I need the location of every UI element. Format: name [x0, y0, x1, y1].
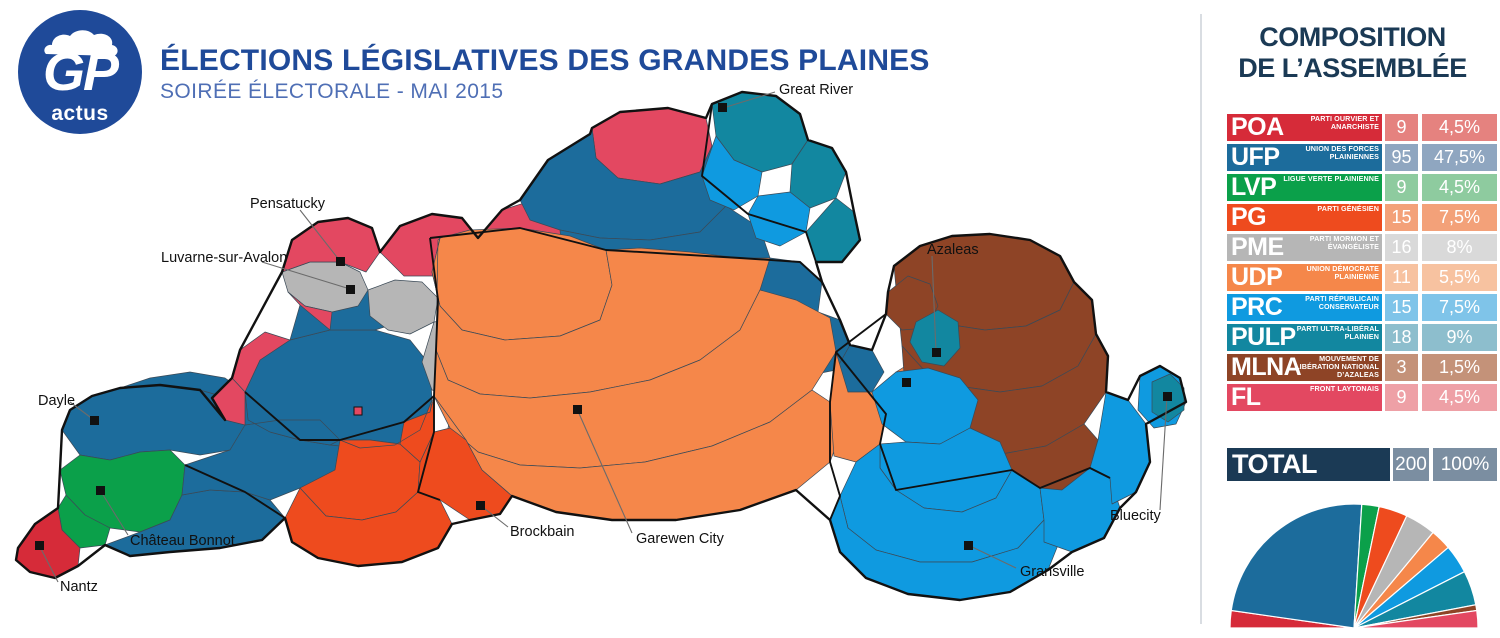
party-abbreviation: FL [1231, 385, 1261, 410]
city-label-pensatucky: Pensatucky [250, 196, 325, 212]
party-full-name: PARTI MORMON ET ÉVANGÉLISTE [1283, 235, 1379, 251]
party-name-cell: UFPUNION DES FORCES PLAINIENNES [1227, 144, 1382, 171]
party-full-name: PARTI GÉNÉSIEN [1283, 205, 1379, 213]
city-label-gransville: Gransville [1020, 564, 1084, 580]
total-label: TOTAL [1227, 448, 1390, 481]
party-percentage: 7,5% [1422, 204, 1497, 231]
party-row[interactable]: FLFRONT LAYTONAIS94,5% [1227, 384, 1497, 411]
panel-divider [1200, 14, 1202, 624]
total-seats: 200 [1393, 448, 1429, 481]
party-row[interactable]: POAPARTI OURVIER ET ANARCHISTE94,5% [1227, 114, 1497, 141]
party-abbreviation: POA [1231, 115, 1284, 140]
composition-title-line2: DE L’ASSEMBLÉE [1205, 53, 1500, 84]
party-name-cell: FLFRONT LAYTONAIS [1227, 384, 1382, 411]
party-full-name: LIGUE VERTE PLAINIENNE [1283, 175, 1379, 183]
party-row[interactable]: PULPPARTI ULTRA-LIBÉRAL PLAINIEN189% [1227, 324, 1497, 351]
party-name-cell: PULPPARTI ULTRA-LIBÉRAL PLAINIEN [1227, 324, 1382, 351]
party-abbreviation: PRC [1231, 295, 1282, 320]
party-full-name: PARTI RÉPUBLICAIN CONSERVATEUR [1283, 295, 1379, 311]
party-name-cell: MLNAMOUVEMENT DE LIBÉRATION NATIONAL D’A… [1227, 354, 1382, 381]
party-full-name: PARTI ULTRA-LIBÉRAL PLAINIEN [1283, 325, 1379, 341]
city-label-dayle: Dayle [38, 393, 75, 409]
party-percentage: 5,5% [1422, 264, 1497, 291]
total-row: TOTAL 200 100% [1227, 448, 1497, 481]
party-name-cell: PMEPARTI MORMON ET ÉVANGÉLISTE [1227, 234, 1382, 261]
party-row[interactable]: PRCPARTI RÉPUBLICAIN CONSERVATEUR157,5% [1227, 294, 1497, 321]
hemicycle-slice-ufp [1231, 504, 1362, 628]
composition-title-line1: COMPOSITION [1205, 22, 1500, 53]
party-percentage: 9% [1422, 324, 1497, 351]
party-seat-count: 9 [1385, 114, 1418, 141]
party-full-name: UNION DES FORCES PLAINIENNES [1283, 145, 1379, 161]
party-full-name: UNION DÉMOCRATE PLAINIENNE [1283, 265, 1379, 281]
party-row[interactable]: UFPUNION DES FORCES PLAINIENNES9547,5% [1227, 144, 1497, 171]
party-row[interactable]: LVPLIGUE VERTE PLAINIENNE94,5% [1227, 174, 1497, 201]
party-abbreviation: UDP [1231, 265, 1282, 290]
party-seat-count: 9 [1385, 384, 1418, 411]
party-name-cell: POAPARTI OURVIER ET ANARCHISTE [1227, 114, 1382, 141]
party-row[interactable]: MLNAMOUVEMENT DE LIBÉRATION NATIONAL D’A… [1227, 354, 1497, 381]
party-seat-count: 15 [1385, 204, 1418, 231]
party-full-name: FRONT LAYTONAIS [1283, 385, 1379, 393]
party-seat-count: 3 [1385, 354, 1418, 381]
party-abbreviation: LVP [1231, 175, 1276, 200]
infographic-root: GP actus ÉLECTIONS LÉGISLATIVES DES GRAN… [0, 0, 1500, 638]
party-row[interactable]: UDPUNION DÉMOCRATE PLAINIENNE115,5% [1227, 264, 1497, 291]
city-label-bluecity: Bluecity [1110, 508, 1161, 524]
party-name-cell: LVPLIGUE VERTE PLAINIENNE [1227, 174, 1382, 201]
party-percentage: 7,5% [1422, 294, 1497, 321]
party-legend-list: POAPARTI OURVIER ET ANARCHISTE94,5%UFPUN… [1227, 114, 1497, 414]
party-full-name: MOUVEMENT DE LIBÉRATION NATIONAL D’AZALE… [1283, 355, 1379, 380]
party-abbreviation: UFP [1231, 145, 1280, 170]
party-percentage: 4,5% [1422, 384, 1497, 411]
city-label-great-river: Great River [779, 82, 853, 98]
party-full-name: PARTI OURVIER ET ANARCHISTE [1283, 115, 1379, 131]
party-name-cell: PRCPARTI RÉPUBLICAIN CONSERVATEUR [1227, 294, 1382, 321]
party-seat-count: 16 [1385, 234, 1418, 261]
composition-title: COMPOSITION DE L’ASSEMBLÉE [1205, 22, 1500, 84]
party-percentage: 8% [1422, 234, 1497, 261]
party-percentage: 4,5% [1422, 174, 1497, 201]
city-label-azaleas: Azaleas [927, 242, 979, 258]
party-row[interactable]: PMEPARTI MORMON ET ÉVANGÉLISTE168% [1227, 234, 1497, 261]
party-seat-count: 9 [1385, 174, 1418, 201]
party-percentage: 4,5% [1422, 114, 1497, 141]
city-label-nantz: Nantz [60, 579, 98, 595]
party-seat-count: 95 [1385, 144, 1418, 171]
composition-panel: COMPOSITION DE L’ASSEMBLÉE POAPARTI OURV… [1205, 0, 1500, 638]
party-seat-count: 11 [1385, 264, 1418, 291]
party-seat-count: 15 [1385, 294, 1418, 321]
hemicycle-chart [1223, 500, 1485, 632]
city-label-brockbain: Brockbain [510, 524, 574, 540]
map-panel: GP actus ÉLECTIONS LÉGISLATIVES DES GRAN… [0, 0, 1196, 638]
party-percentage: 1,5% [1422, 354, 1497, 381]
city-label-chateau-bonnot: Château Bonnot [130, 533, 235, 549]
party-seat-count: 18 [1385, 324, 1418, 351]
city-label-luvarne-sur-avalon: Luvarne-sur-Avalon [161, 250, 287, 266]
city-label-garewen-city: Garewen City [636, 531, 724, 547]
party-abbreviation: PME [1231, 235, 1284, 260]
party-name-cell: UDPUNION DÉMOCRATE PLAINIENNE [1227, 264, 1382, 291]
district-luvarne-pme [282, 262, 368, 312]
party-abbreviation: PG [1231, 205, 1266, 230]
party-name-cell: PGPARTI GÉNÉSIEN [1227, 204, 1382, 231]
total-percent: 100% [1433, 448, 1497, 481]
party-percentage: 47,5% [1422, 144, 1497, 171]
party-row[interactable]: PGPARTI GÉNÉSIEN157,5% [1227, 204, 1497, 231]
